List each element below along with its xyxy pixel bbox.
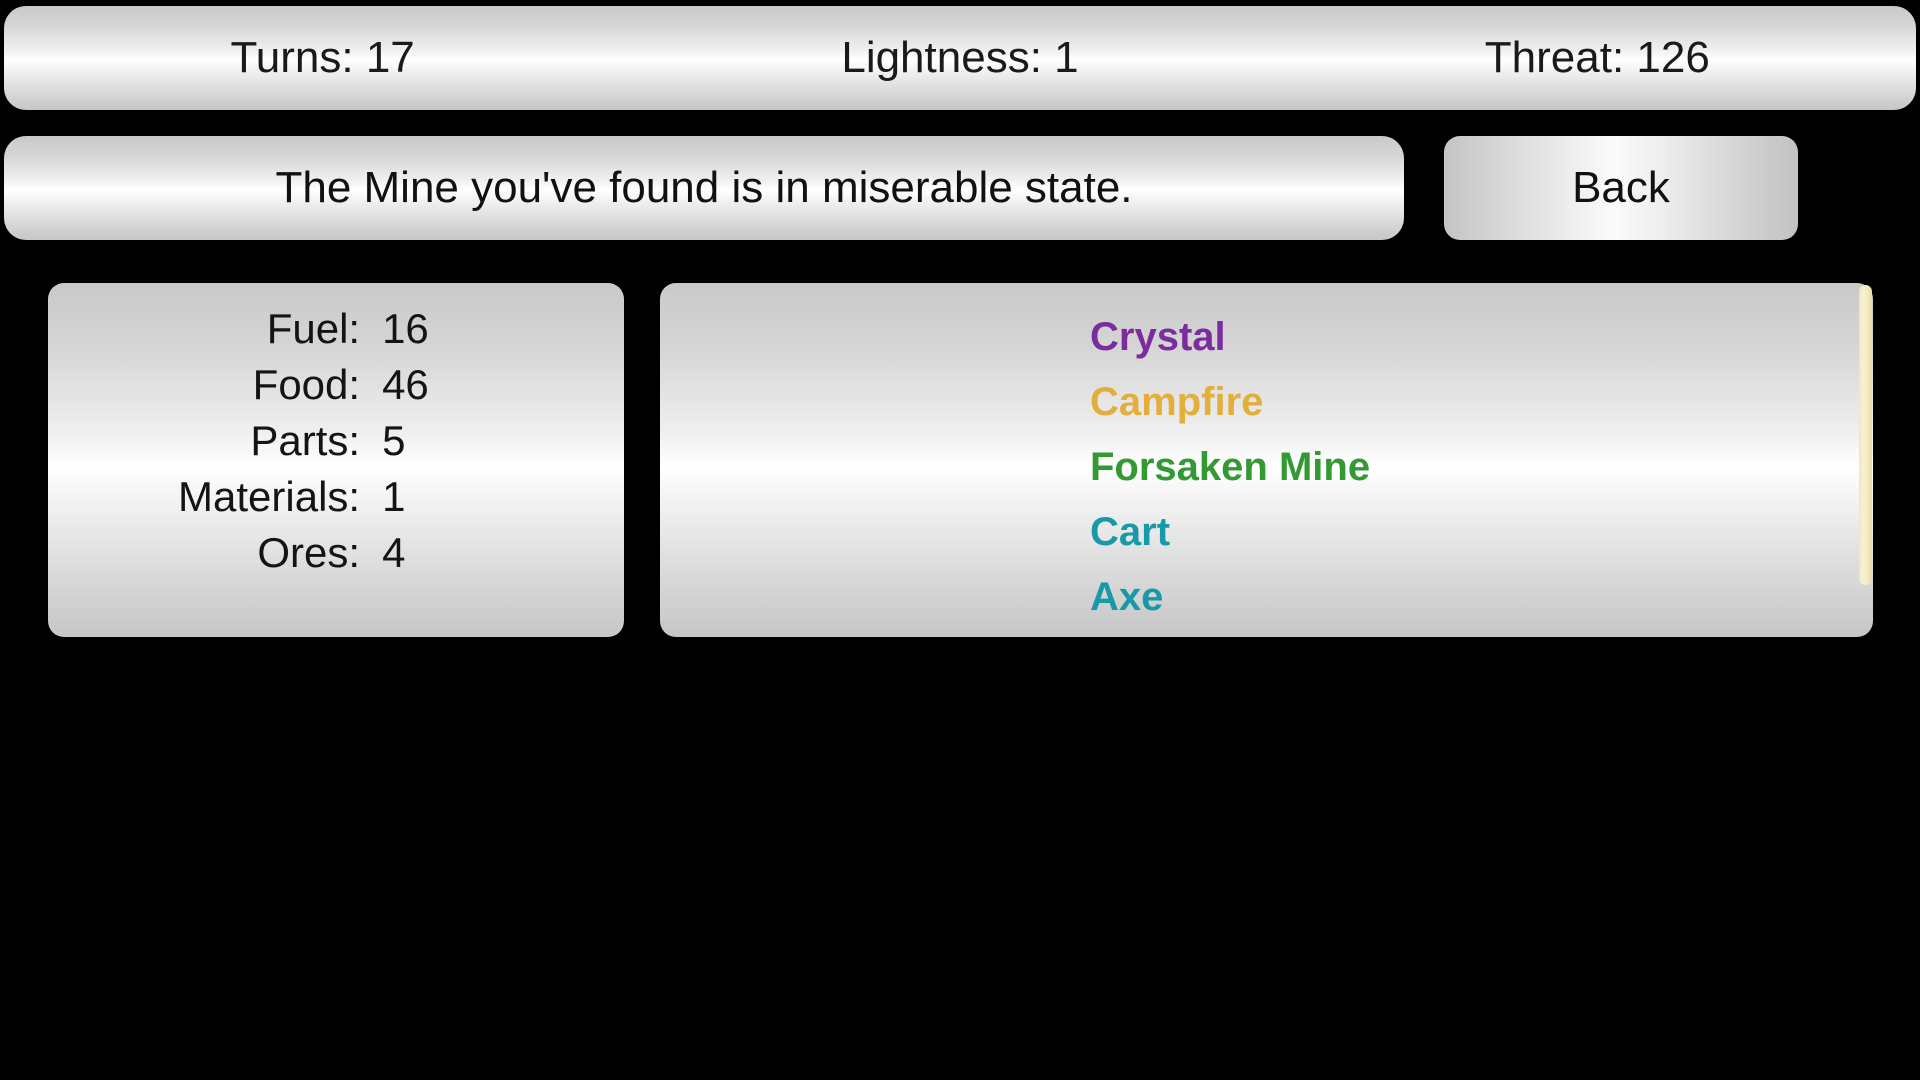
items-list: Crystal Campfire Forsaken Mine Cart Axe — [1090, 305, 1873, 630]
status-bar: Turns: 17 Lightness: 1 Threat: 126 — [4, 6, 1916, 110]
back-button[interactable]: Back — [1444, 136, 1798, 240]
resource-value-ores: 4 — [382, 525, 624, 581]
resource-value-materials: 1 — [382, 469, 624, 525]
list-item-forsaken-mine[interactable]: Forsaken Mine — [1090, 435, 1873, 500]
items-scrollbar-thumb[interactable] — [1859, 285, 1872, 585]
resource-label-fuel: Fuel: — [48, 301, 382, 357]
resource-label-ores: Ores: — [48, 525, 382, 581]
resource-value-fuel: 16 — [382, 301, 624, 357]
table-row: Food: 46 — [48, 357, 624, 413]
resource-label-materials: Materials: — [48, 469, 382, 525]
resource-value-food: 46 — [382, 357, 624, 413]
items-panel: Crystal Campfire Forsaken Mine Cart Axe — [660, 283, 1873, 637]
message-bar: The Mine you've found is in miserable st… — [4, 136, 1404, 240]
resource-value-parts: 5 — [382, 413, 624, 469]
resource-label-parts: Parts: — [48, 413, 382, 469]
stat-lightness: Lightness: 1 — [641, 33, 1278, 83]
back-button-label: Back — [1572, 163, 1670, 213]
list-item-axe[interactable]: Axe — [1090, 565, 1873, 630]
resources-table: Fuel: 16 Food: 46 Parts: 5 Materials: 1 … — [48, 301, 624, 581]
table-row: Fuel: 16 — [48, 301, 624, 357]
table-row: Materials: 1 — [48, 469, 624, 525]
message-text: The Mine you've found is in miserable st… — [275, 163, 1132, 213]
resource-label-food: Food: — [48, 357, 382, 413]
resources-panel: Fuel: 16 Food: 46 Parts: 5 Materials: 1 … — [48, 283, 624, 637]
table-row: Ores: 4 — [48, 525, 624, 581]
stat-threat: Threat: 126 — [1279, 33, 1916, 83]
table-row: Parts: 5 — [48, 413, 624, 469]
list-item-campfire[interactable]: Campfire — [1090, 370, 1873, 435]
list-item-cart[interactable]: Cart — [1090, 500, 1873, 565]
stat-turns: Turns: 17 — [4, 33, 641, 83]
list-item-crystal[interactable]: Crystal — [1090, 305, 1873, 370]
